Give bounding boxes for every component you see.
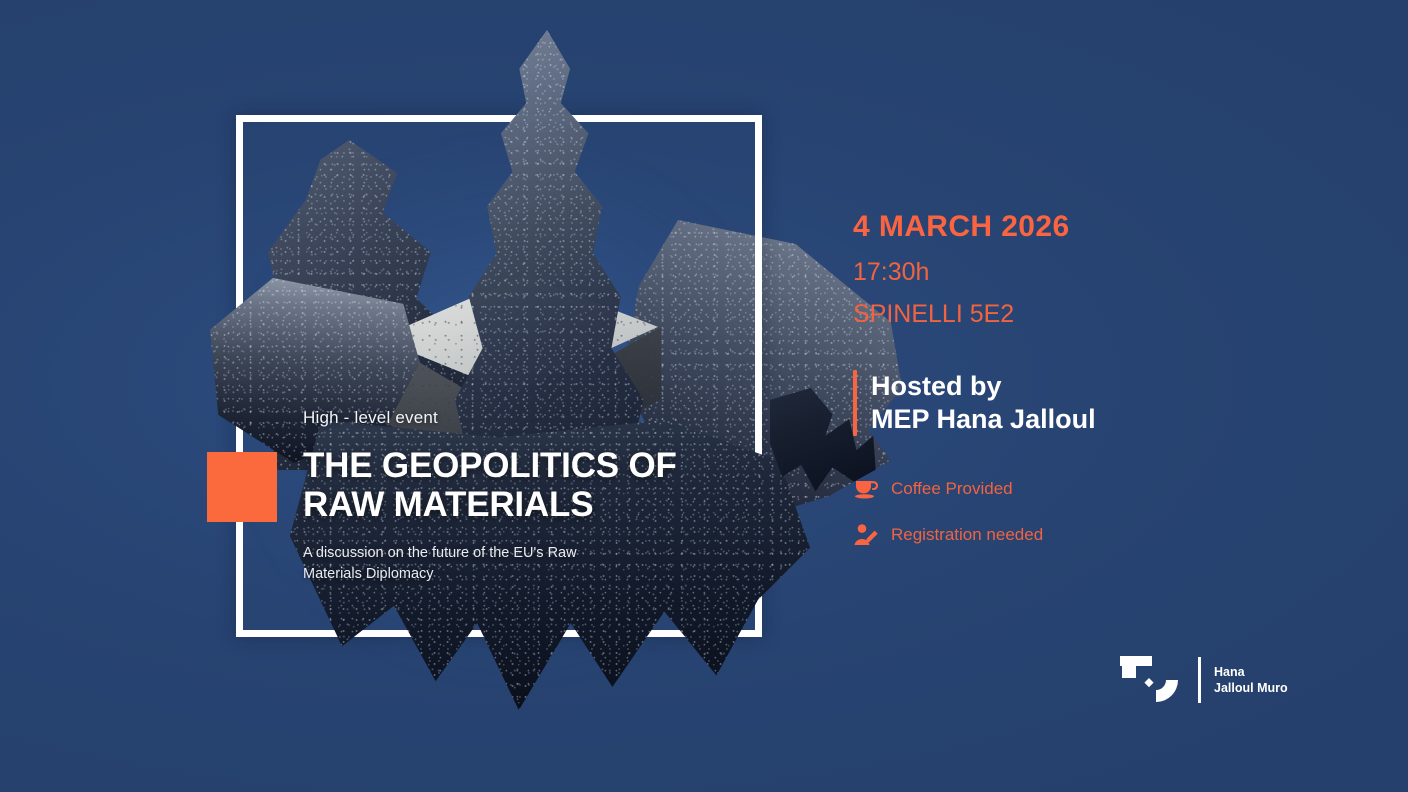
logo-name: Hana Jalloul Muro xyxy=(1214,664,1288,697)
subtitle-line-1: A discussion on the future of the EU's R… xyxy=(303,543,723,564)
headline-line-1: THE GEOPOLITICS OF xyxy=(303,446,723,485)
host-name: MEP Hana Jalloul xyxy=(871,403,1096,436)
subtitle-line-2: Materials Diplomacy xyxy=(303,564,723,585)
event-time: 17:30h xyxy=(853,258,1313,287)
title-block: High - level event THE GEOPOLITICS OF RA… xyxy=(303,408,723,585)
orange-accent-square xyxy=(207,452,277,522)
note-registration: Registration needed xyxy=(853,522,1313,548)
person-registration-icon xyxy=(853,522,879,548)
logo-name-line-2: Jalloul Muro xyxy=(1214,680,1288,697)
note-coffee: Coffee Provided xyxy=(853,476,1313,502)
coffee-cup-icon xyxy=(853,476,879,502)
event-venue: SPINELLI 5E2 xyxy=(853,300,1313,329)
event-notes-list: Coffee Provided Registration needed xyxy=(853,476,1313,548)
note-label: Coffee Provided xyxy=(891,479,1013,499)
note-label: Registration needed xyxy=(891,525,1043,545)
orange-accent-bar xyxy=(853,370,857,436)
event-kicker: High - level event xyxy=(303,408,723,428)
abstract-face-mark-icon xyxy=(1116,652,1182,708)
headline-line-2: RAW MATERIALS xyxy=(303,485,723,524)
event-details-column: 4 MARCH 2026 17:30h SPINELLI 5E2 Hosted … xyxy=(853,210,1313,568)
hosted-by-label: Hosted by xyxy=(871,370,1096,403)
page-title: THE GEOPOLITICS OF RAW MATERIALS xyxy=(303,446,723,524)
event-subtitle: A discussion on the future of the EU's R… xyxy=(303,543,723,584)
hosted-by-block: Hosted by MEP Hana Jalloul xyxy=(853,370,1313,436)
host-names: Hosted by MEP Hana Jalloul xyxy=(871,370,1096,436)
artwork-stage xyxy=(170,20,870,750)
logo-name-line-1: Hana xyxy=(1214,664,1288,681)
logo-divider xyxy=(1198,657,1201,703)
event-poster: High - level event THE GEOPOLITICS OF RA… xyxy=(0,0,1408,792)
logo: Hana Jalloul Muro xyxy=(1116,652,1288,708)
event-date: 4 MARCH 2026 xyxy=(853,210,1313,244)
